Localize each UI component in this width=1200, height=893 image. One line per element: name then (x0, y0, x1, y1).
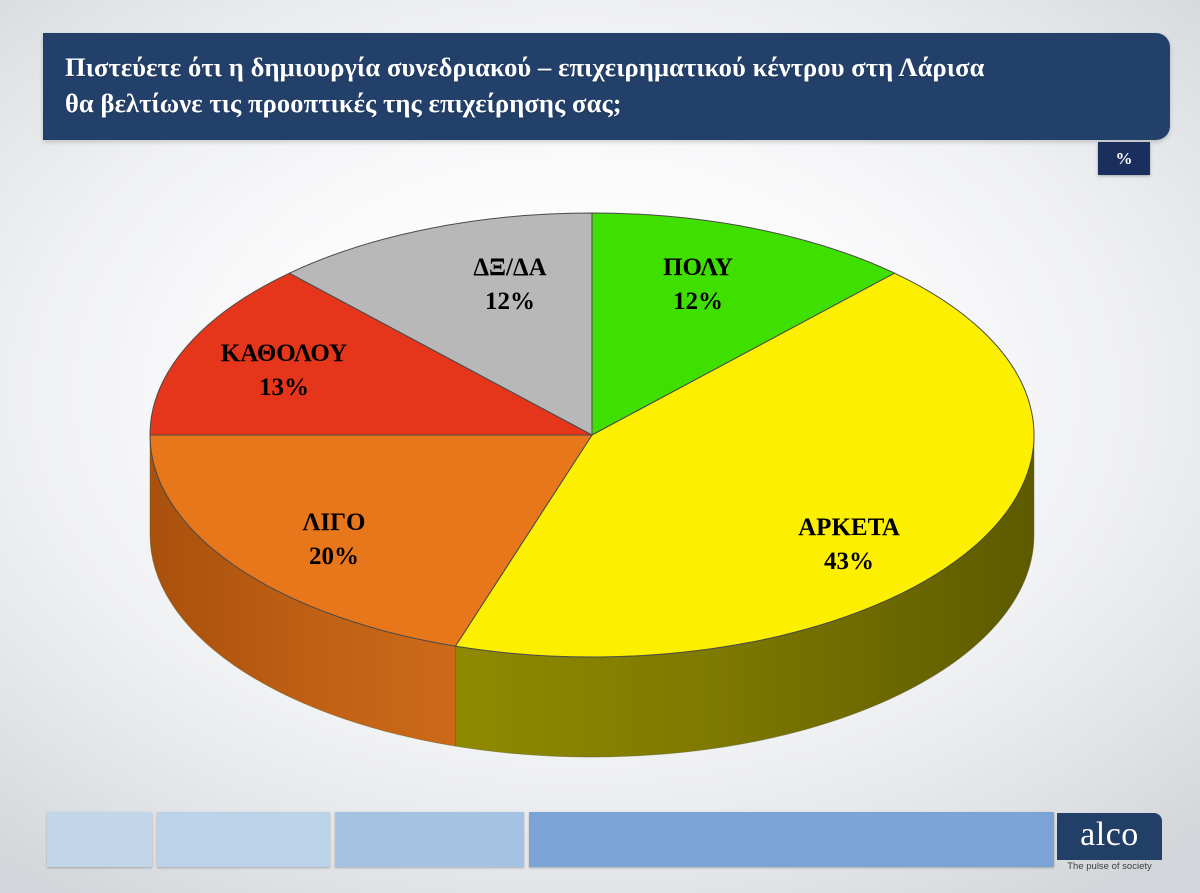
logo-tagline: The pulse of society (1057, 861, 1162, 872)
title-banner: Πιστεύετε ότι η δημιουργία συνεδριακού –… (43, 33, 1170, 140)
logo-wordmark: alco (1080, 818, 1139, 852)
pie-chart-svg: ΠΟΛΥ12%ΑΡΚΕΤΑ43%ΛΙΓΟ20%ΚΑΘΟΛΟΥ13%ΔΞ/ΔΑ12… (0, 150, 1200, 790)
logo-badge: alco (1057, 813, 1162, 860)
pie-slices (150, 213, 1034, 757)
brand-logo: alco The pulse of society (1057, 813, 1162, 873)
slide-canvas: Πιστεύετε ότι η δημιουργία συνεδριακού –… (0, 0, 1200, 893)
page-title: Πιστεύετε ότι η δημιουργία συνεδριακού –… (65, 49, 1150, 122)
footer-segment-2 (157, 812, 330, 867)
footer-decoration-bar (0, 812, 1200, 874)
footer-segment-3 (335, 812, 524, 867)
footer-segment-4 (529, 812, 1054, 867)
pie-chart: ΠΟΛΥ12%ΑΡΚΕΤΑ43%ΛΙΓΟ20%ΚΑΘΟΛΟΥ13%ΔΞ/ΔΑ12… (0, 150, 1200, 790)
footer-segment-1 (47, 812, 152, 867)
